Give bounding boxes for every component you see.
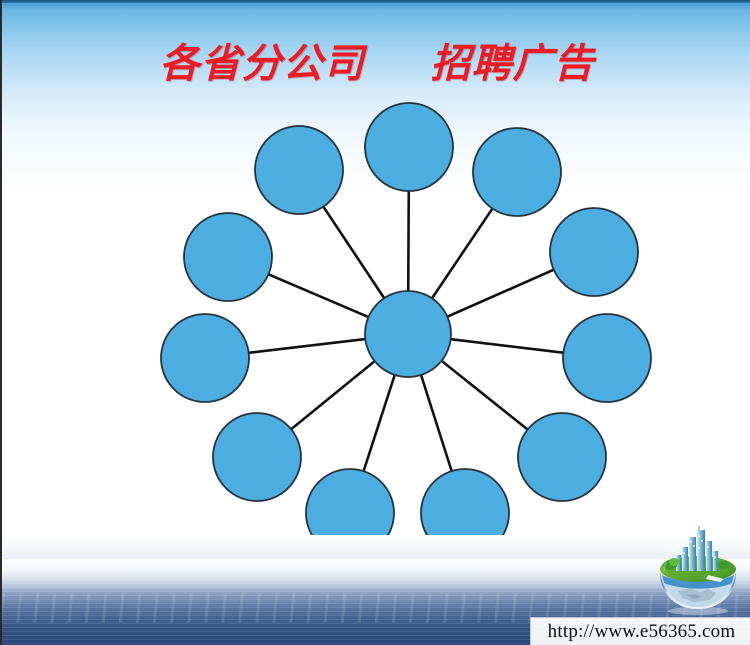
node-lower-left-shape[interactable]	[213, 413, 301, 501]
spoke-line-upper-right	[446, 269, 554, 317]
node-top[interactable]	[365, 103, 453, 191]
spoke-line-right	[450, 339, 565, 353]
node-top-left[interactable]	[255, 126, 343, 214]
node-lower-right[interactable]	[518, 413, 606, 501]
node-right-shape[interactable]	[563, 314, 651, 402]
spoke-line-top-right	[431, 208, 493, 299]
spoke-line-top	[408, 190, 409, 292]
node-lower-right-shape[interactable]	[518, 413, 606, 501]
node-lower-left[interactable]	[213, 413, 301, 501]
center-hub[interactable]	[365, 291, 451, 377]
spoke-line-left	[248, 339, 367, 353]
node-upper-left-shape[interactable]	[184, 213, 272, 301]
globe-city-logo-icon	[650, 525, 746, 617]
slide-canvas: 各省分公司 招聘广告	[0, 0, 750, 645]
spoke-line-bottom-right	[421, 374, 452, 472]
node-top-left-shape[interactable]	[255, 126, 343, 214]
node-right[interactable]	[563, 314, 651, 402]
node-left[interactable]	[161, 314, 249, 402]
spoke-line-lower-right	[441, 360, 529, 430]
node-left-shape[interactable]	[161, 314, 249, 402]
globe-city-logo	[650, 525, 746, 617]
node-top-shape[interactable]	[365, 103, 453, 191]
spoke-line-top-left	[323, 206, 385, 299]
node-circles-group	[161, 103, 651, 557]
watermark-url: http://www.e56365.com	[548, 621, 736, 643]
node-upper-left[interactable]	[184, 213, 272, 301]
spoke-line-bottom-left	[363, 374, 395, 472]
node-top-right[interactable]	[473, 128, 561, 216]
spoke-line-upper-left	[268, 274, 370, 318]
node-upper-right[interactable]	[550, 208, 638, 296]
spoke-line-lower-left	[290, 361, 375, 430]
watermark-box: http://www.e56365.com	[530, 617, 750, 645]
node-top-right-shape[interactable]	[473, 128, 561, 216]
node-upper-right-shape[interactable]	[550, 208, 638, 296]
horizon-haze	[2, 559, 750, 593]
center-hub-shape[interactable]	[365, 291, 451, 377]
